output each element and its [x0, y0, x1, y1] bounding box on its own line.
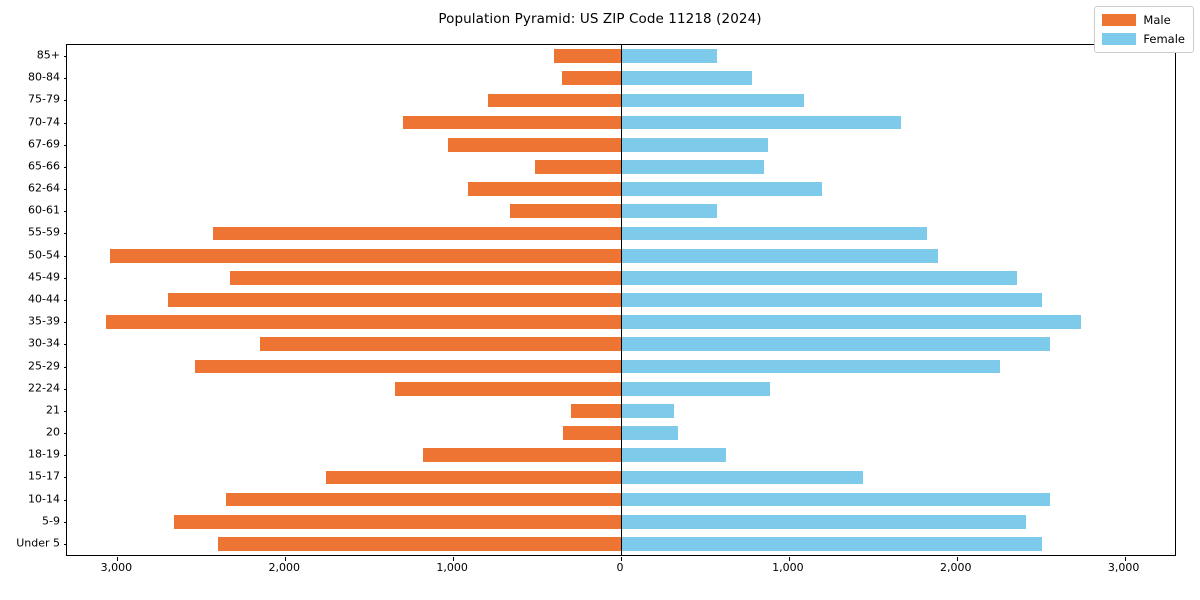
- bar-male-21[interactable]: [571, 404, 621, 418]
- y-tick-label-45-49: 45-49: [28, 270, 60, 283]
- bar-male-55-59[interactable]: [213, 227, 621, 241]
- y-tick-mark: [64, 433, 68, 434]
- y-tick-mark: [64, 522, 68, 523]
- x-tick-label-3: 0: [617, 561, 624, 574]
- x-tick-label-6: 3,000: [1108, 561, 1140, 574]
- y-tick-mark: [64, 145, 68, 146]
- bar-female-5-9[interactable]: [621, 515, 1026, 529]
- x-tick-mark: [957, 557, 958, 561]
- bar-male-65-66[interactable]: [535, 160, 621, 174]
- bar-male-10-14[interactable]: [226, 493, 621, 507]
- y-tick-label-25-29: 25-29: [28, 359, 60, 372]
- y-tick-label-5-9: 5-9: [42, 514, 60, 527]
- y-tick-mark: [64, 344, 68, 345]
- y-tick-label-80-84: 80-84: [28, 71, 60, 84]
- y-tick-label-under-5: Under 5: [16, 536, 60, 549]
- bar-female-45-49[interactable]: [621, 271, 1017, 285]
- y-tick-mark: [64, 322, 68, 323]
- bar-female-18-19[interactable]: [621, 448, 726, 462]
- bar-female-20[interactable]: [621, 426, 678, 440]
- x-tick-label-4: 1,000: [772, 561, 804, 574]
- bar-female-85-[interactable]: [621, 49, 717, 63]
- y-tick-label-65-66: 65-66: [28, 159, 60, 172]
- y-tick-mark: [64, 256, 68, 257]
- y-tick-label-21: 21: [46, 403, 60, 416]
- bar-male-67-69[interactable]: [448, 138, 621, 152]
- x-tick-mark: [285, 557, 286, 561]
- bar-male-50-54[interactable]: [110, 249, 621, 263]
- bar-male-80-84[interactable]: [562, 71, 621, 85]
- y-tick-mark: [64, 455, 68, 456]
- y-tick-mark: [64, 211, 68, 212]
- y-tick-label-50-54: 50-54: [28, 248, 60, 261]
- bar-male-85-[interactable]: [554, 49, 621, 63]
- x-tick-label-2: 1,000: [436, 561, 468, 574]
- bar-female-15-17[interactable]: [621, 471, 863, 485]
- y-tick-mark: [64, 278, 68, 279]
- bar-male-62-64[interactable]: [468, 182, 621, 196]
- bar-female-62-64[interactable]: [621, 182, 822, 196]
- x-tick-label-1: 2,000: [268, 561, 300, 574]
- chart-legend: MaleFemale: [1094, 6, 1194, 53]
- bar-female-50-54[interactable]: [621, 249, 938, 263]
- y-tick-mark: [64, 233, 68, 234]
- y-tick-mark: [64, 56, 68, 57]
- y-tick-mark: [64, 367, 68, 368]
- y-tick-mark: [64, 189, 68, 190]
- x-tick-mark: [1125, 557, 1126, 561]
- y-tick-mark: [64, 389, 68, 390]
- y-tick-label-35-39: 35-39: [28, 315, 60, 328]
- legend-label-male: Male: [1143, 13, 1170, 27]
- bar-female-67-69[interactable]: [621, 138, 768, 152]
- legend-item-male[interactable]: Male: [1102, 12, 1185, 28]
- bar-male-40-44[interactable]: [168, 293, 621, 307]
- y-tick-label-22-24: 22-24: [28, 381, 60, 394]
- bar-female-21[interactable]: [621, 404, 674, 418]
- y-tick-mark: [64, 477, 68, 478]
- x-tick-mark: [117, 557, 118, 561]
- bar-male-45-49[interactable]: [230, 271, 621, 285]
- zero-axis-line: [621, 45, 622, 555]
- bar-male-18-19[interactable]: [423, 448, 621, 462]
- y-tick-label-70-74: 70-74: [28, 115, 60, 128]
- y-tick-label-62-64: 62-64: [28, 182, 60, 195]
- bar-male-25-29[interactable]: [195, 360, 621, 374]
- bar-male-under-5[interactable]: [218, 537, 621, 551]
- y-tick-mark: [64, 500, 68, 501]
- y-tick-mark: [64, 544, 68, 545]
- bar-male-35-39[interactable]: [106, 315, 621, 329]
- y-tick-label-75-79: 75-79: [28, 93, 60, 106]
- bar-male-22-24[interactable]: [395, 382, 621, 396]
- bar-male-70-74[interactable]: [403, 116, 621, 130]
- plot-area: [66, 44, 1176, 556]
- bar-female-10-14[interactable]: [621, 493, 1050, 507]
- bar-female-under-5[interactable]: [621, 537, 1042, 551]
- y-tick-mark: [64, 411, 68, 412]
- legend-swatch-female: [1102, 33, 1136, 45]
- x-tick-label-5: 2,000: [940, 561, 972, 574]
- y-tick-label-30-34: 30-34: [28, 337, 60, 350]
- bar-male-5-9[interactable]: [174, 515, 621, 529]
- bar-male-75-79[interactable]: [488, 94, 621, 108]
- bar-female-22-24[interactable]: [621, 382, 770, 396]
- y-tick-mark: [64, 78, 68, 79]
- population-pyramid-figure: Population Pyramid: US ZIP Code 11218 (2…: [0, 0, 1200, 600]
- y-tick-label-40-44: 40-44: [28, 293, 60, 306]
- x-tick-mark: [621, 557, 622, 561]
- legend-label-female: Female: [1143, 32, 1185, 46]
- bar-female-55-59[interactable]: [621, 227, 927, 241]
- bar-male-60-61[interactable]: [510, 204, 621, 218]
- y-tick-label-67-69: 67-69: [28, 137, 60, 150]
- bar-male-30-34[interactable]: [260, 337, 621, 351]
- y-tick-label-20: 20: [46, 426, 60, 439]
- bar-male-15-17[interactable]: [326, 471, 621, 485]
- y-tick-label-55-59: 55-59: [28, 226, 60, 239]
- bar-female-30-34[interactable]: [621, 337, 1050, 351]
- y-tick-mark: [64, 167, 68, 168]
- bar-female-75-79[interactable]: [621, 94, 804, 108]
- bar-female-65-66[interactable]: [621, 160, 764, 174]
- y-tick-label-85-: 85+: [37, 49, 60, 62]
- bar-male-20[interactable]: [563, 426, 621, 440]
- y-tick-label-18-19: 18-19: [28, 448, 60, 461]
- y-tick-label-60-61: 60-61: [28, 204, 60, 217]
- x-tick-label-0: 3,000: [101, 561, 133, 574]
- bar-female-25-29[interactable]: [621, 360, 1000, 374]
- bar-female-40-44[interactable]: [621, 293, 1042, 307]
- chart-title: Population Pyramid: US ZIP Code 11218 (2…: [0, 11, 1200, 27]
- bar-female-35-39[interactable]: [621, 315, 1081, 329]
- y-tick-label-15-17: 15-17: [28, 470, 60, 483]
- bar-female-60-61[interactable]: [621, 204, 717, 218]
- x-tick-mark: [789, 557, 790, 561]
- bar-female-70-74[interactable]: [621, 116, 901, 130]
- y-tick-mark: [64, 100, 68, 101]
- x-tick-mark: [453, 557, 454, 561]
- legend-swatch-male: [1102, 14, 1136, 26]
- legend-item-female[interactable]: Female: [1102, 31, 1185, 47]
- y-tick-mark: [64, 123, 68, 124]
- y-tick-mark: [64, 300, 68, 301]
- bar-female-80-84[interactable]: [621, 71, 752, 85]
- y-tick-label-10-14: 10-14: [28, 492, 60, 505]
